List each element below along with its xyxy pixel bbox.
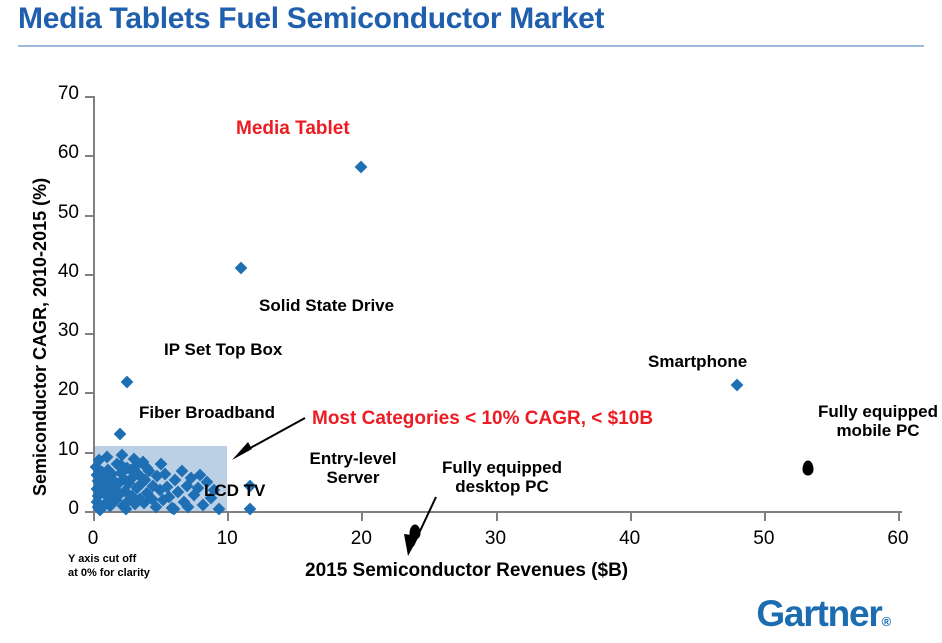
x-tick-label-60: 60 (868, 528, 928, 550)
x-tick-60 (898, 511, 900, 521)
x-tick-50 (764, 511, 766, 521)
y-tick-60 (85, 155, 94, 157)
x-tick-label-20: 20 (331, 528, 391, 550)
callout-smartphone: Smartphone (648, 352, 747, 371)
data-point-fully-equipped-mobile-pc (803, 460, 814, 475)
y-axis-cutoff-note: Y axis cut off at 0% for clarity (68, 553, 150, 581)
x-tick-10 (227, 511, 229, 521)
y-axis-title: Semiconductor CAGR, 2010-2015 (%) (30, 178, 51, 496)
x-tick-label-50: 50 (734, 528, 794, 550)
y-tick-30 (85, 333, 94, 335)
callout-media-tablet: Media Tablet (236, 118, 350, 139)
y-tick-label-0: 0 (31, 498, 79, 520)
data-point-fiber-broadband (113, 428, 126, 441)
callout-fully-equipped-mobile-pc: Fully equipped mobile PC (812, 402, 942, 440)
x-tick-40 (630, 511, 632, 521)
x-tick-label-30: 30 (466, 528, 526, 550)
data-point-media-tablet (355, 161, 368, 174)
callout-fully-equipped-desktop-pc: Fully equipped desktop PC (437, 458, 567, 496)
y-tick-10 (85, 452, 94, 454)
y-tick-70 (85, 96, 94, 98)
y-axis-line (93, 96, 95, 511)
data-point-smartphone (731, 379, 744, 392)
x-tick-label-0: 0 (63, 528, 123, 550)
callout-solid-state-drive: Solid State Drive (259, 296, 394, 315)
callout-lcd-tv: LCD TV (204, 481, 265, 500)
x-axis-title: 2015 Semiconductor Revenues ($B) (305, 560, 628, 582)
y-tick-20 (85, 392, 94, 394)
gartner-logo: Gartner® (756, 593, 890, 635)
y-tick-50 (85, 215, 94, 217)
data-point-fully-equipped-desktop-pc (410, 525, 421, 540)
slide-canvas: Media Tablets Fuel Semiconductor Market … (0, 0, 942, 643)
callout-entry-level-server: Entry-level Server (305, 449, 401, 487)
data-point-solid-state-drive (234, 262, 247, 275)
logo-text: Gartner (756, 593, 881, 634)
y-tick-label-60: 60 (31, 142, 79, 164)
y-tick-label-70: 70 (31, 83, 79, 105)
data-point-entry-level-server (244, 503, 257, 516)
scatter-plot: 01020304050607001020304050602015 Semicon… (0, 0, 942, 643)
registered-trademark-icon: ® (882, 614, 890, 629)
callout-most-categories: Most Categories < 10% CAGR, < $10B (312, 408, 653, 429)
callout-ip-set-top-box: IP Set Top Box (164, 340, 282, 359)
y-tick-40 (85, 274, 94, 276)
x-tick-label-10: 10 (197, 528, 257, 550)
x-tick-label-40: 40 (600, 528, 660, 550)
x-tick-30 (496, 511, 498, 521)
x-tick-0 (93, 511, 95, 521)
callout-fiber-broadband: Fiber Broadband (139, 403, 275, 422)
x-tick-20 (361, 511, 363, 521)
data-point-ip-set-top-box (120, 376, 133, 389)
